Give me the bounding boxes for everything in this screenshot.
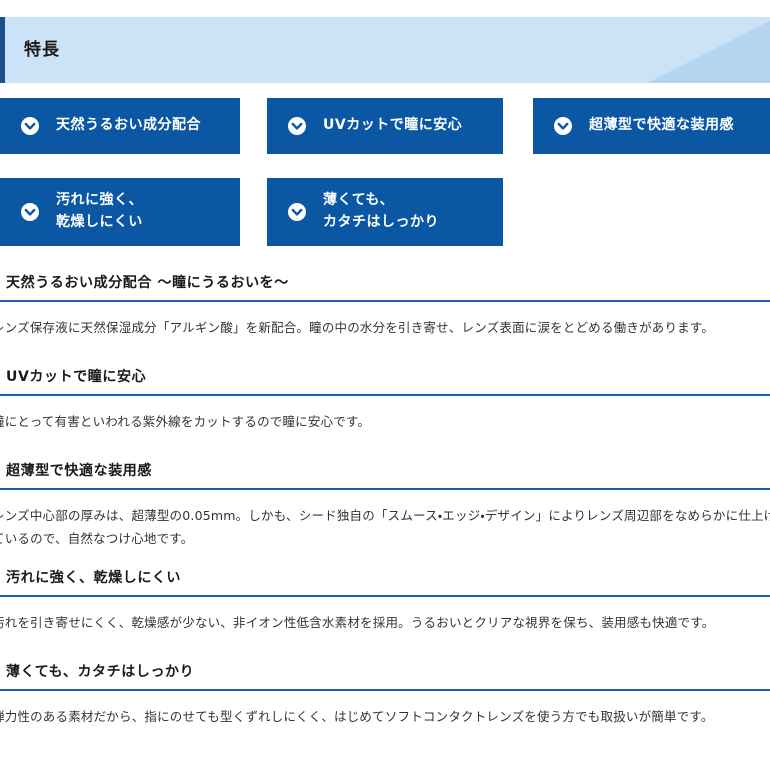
section-ultra-thin: 超薄型で快適な装用感 レンズ中心部の厚みは、超薄型の0.05mm。しかも、シード… (0, 460, 770, 550)
section-heading: 超薄型で快適な装用感 (0, 460, 770, 490)
feature-page: 特長 天然うるおい成分配合 UVカットで瞳に安心 超薄型で快適な装用感 (0, 0, 770, 770)
feature-button-label: 薄くても、 カタチはしっかり (323, 190, 439, 233)
section-title: 天然うるおい成分配合 〜瞳にうるおいを〜 (6, 272, 289, 292)
section-heading: 天然うるおい成分配合 〜瞳にうるおいを〜 (0, 272, 770, 302)
section-body: 汚れを引き寄せにくく、乾燥感が少ない、非イオン性低含水素材を採用。うるおいとクリ… (0, 597, 770, 634)
section-heading: 薄くても、カタチはしっかり (0, 661, 770, 691)
section-uv-cut: UVカットで瞳に安心 瞳にとって有害といわれる紫外線をカットするので瞳に安心です… (0, 366, 770, 433)
section-heading: UVカットで瞳に安心 (0, 366, 770, 396)
section-body: 弾力性のある素材だから、指にのせても型くずれしにくく、はじめてソフトコンタクトレ… (0, 691, 770, 728)
feature-button-ultra-thin[interactable]: 超薄型で快適な装用感 (533, 98, 770, 154)
section-title: UVカットで瞳に安心 (6, 366, 146, 386)
header-corner-decoration (648, 17, 770, 83)
feature-button-label: UVカットで瞳に安心 (323, 115, 462, 137)
feature-button-stain-resistant[interactable]: 汚れに強く、 乾燥しにくい (0, 178, 240, 246)
section-body: レンズ保存液に天然保湿成分「アルギン酸」を新配合。瞳の中の水分を引き寄せ、レンズ… (0, 302, 770, 339)
section-shape-retention: 薄くても、カタチはしっかり 弾力性のある素材だから、指にのせても型くずれしにくく… (0, 661, 770, 728)
chevron-down-circle-icon (20, 116, 40, 136)
page-header: 特長 (0, 17, 770, 83)
feature-button-uv-cut[interactable]: UVカットで瞳に安心 (267, 98, 503, 154)
feature-button-label: 汚れに強く、 乾燥しにくい (56, 190, 143, 233)
feature-button-label: 超薄型で快適な装用感 (589, 115, 734, 137)
chevron-down-circle-icon (287, 116, 307, 136)
section-title: 薄くても、カタチはしっかり (6, 661, 194, 681)
section-title: 超薄型で快適な装用感 (6, 460, 152, 480)
page-title: 特長 (24, 17, 60, 83)
section-stain-resistant: 汚れに強く、乾燥しにくい 汚れを引き寄せにくく、乾燥感が少ない、非イオン性低含水… (0, 567, 770, 634)
chevron-down-circle-icon (553, 116, 573, 136)
chevron-down-circle-icon (287, 202, 307, 222)
section-natural-moisture: 天然うるおい成分配合 〜瞳にうるおいを〜 レンズ保存液に天然保湿成分「アルギン酸… (0, 272, 770, 339)
feature-button-label: 天然うるおい成分配合 (56, 115, 201, 137)
section-heading: 汚れに強く、乾燥しにくい (0, 567, 770, 597)
section-title: 汚れに強く、乾燥しにくい (6, 567, 181, 587)
section-body: 瞳にとって有害といわれる紫外線をカットするので瞳に安心です。 (0, 396, 770, 433)
section-body: レンズ中心部の厚みは、超薄型の0.05mm。しかも、シード独自の「スムース・エッ… (0, 490, 770, 550)
feature-button-shape-retention[interactable]: 薄くても、 カタチはしっかり (267, 178, 503, 246)
chevron-down-circle-icon (20, 202, 40, 222)
header-accent-bar (0, 17, 5, 83)
feature-button-natural-moisture[interactable]: 天然うるおい成分配合 (0, 98, 240, 154)
